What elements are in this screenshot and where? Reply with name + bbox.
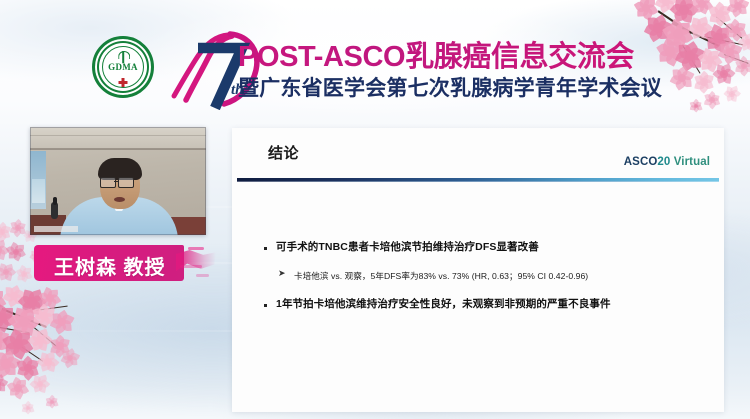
asco-logo-virtual: Virtual: [674, 156, 710, 168]
speaker-name-label: 王树森 教授: [54, 251, 166, 280]
event-title: POST-ASCO乳腺癌信息交流会: [238, 33, 634, 75]
bullet-text: 1年节拍卡培他滨维持治疗安全性良好，未观察到非预期的严重不良事件: [276, 297, 698, 312]
slide-bullet-list: 可手术的TNBC患者卡培他滨节拍维持治疗DFS显著改善 ➤ 卡培他滨 vs. 观…: [262, 240, 698, 316]
banner-fleck: [180, 265, 202, 268]
bullet-item: 可手术的TNBC患者卡培他滨节拍维持治疗DFS显著改善: [262, 240, 698, 255]
event-header: GDMA th POST-ASCO乳腺癌信息交流会 暨广东省医学会第七次乳腺病学…: [0, 0, 750, 126]
presentation-slide[interactable]: 结论 ASCO20 Virtual 可手术的TNBC患者卡培他滨节拍维持治疗DF…: [232, 128, 724, 412]
sub-bullet-arrow-icon: ➤: [278, 267, 286, 280]
sub-bullet-text: 卡培他滨 vs. 观察，5年DFS率为83% vs. 73% (HR, 0.63…: [294, 271, 588, 281]
speaker-name-banner: 王树森 教授: [30, 243, 215, 283]
banner-fleck: [196, 274, 209, 277]
sub-bullet-item: ➤ 卡培他滨 vs. 观察，5年DFS率为83% vs. 73% (HR, 0.…: [262, 266, 698, 284]
asco-virtual-logo: ASCO20 Virtual: [624, 156, 710, 168]
asco-logo-year: 20: [657, 156, 670, 168]
asco-logo-word: ASCO: [624, 156, 658, 168]
speaker-video-panel[interactable]: [30, 127, 206, 235]
slide-title: 结论: [268, 142, 299, 163]
banner-fleck: [188, 247, 204, 250]
video-panel-border: [30, 127, 206, 235]
bullet-text: 可手术的TNBC患者卡培他滨节拍维持治疗DFS显著改善: [276, 240, 698, 255]
event-subtitle: 暨广东省医学会第七次乳腺病学青年学术会议: [238, 72, 662, 102]
medical-cross-icon: [119, 78, 128, 87]
slide-divider-rule-accent: [237, 181, 719, 182]
gdma-logo-label: GDMA: [92, 62, 154, 72]
bullet-item: 1年节拍卡培他滨维持治疗安全性良好，未观察到非预期的严重不良事件: [262, 297, 698, 312]
gdma-logo-icon: GDMA: [92, 36, 154, 98]
screenshot-root: GDMA th POST-ASCO乳腺癌信息交流会 暨广东省医学会第七次乳腺病学…: [0, 0, 750, 419]
